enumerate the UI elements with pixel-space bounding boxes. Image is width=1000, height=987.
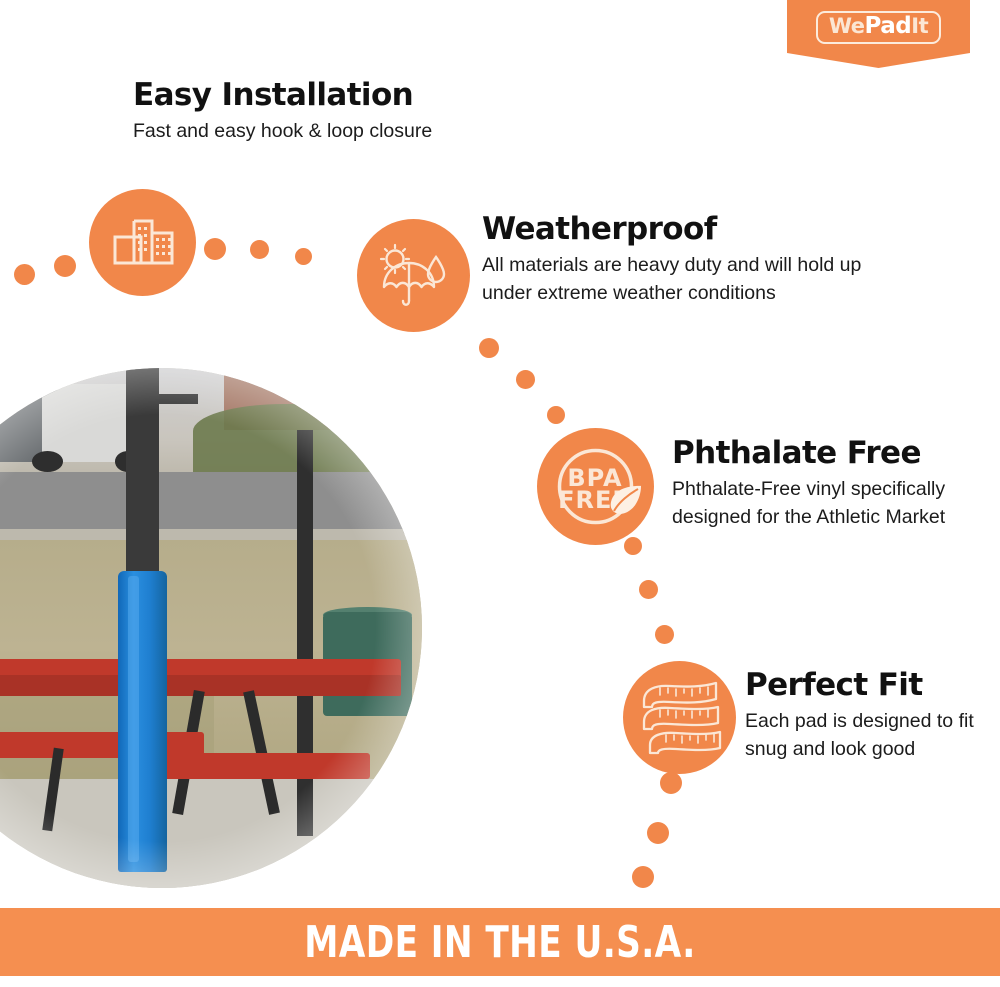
trail-dot — [54, 255, 76, 277]
feature-description: Fast and easy hook & loop closure — [133, 118, 593, 146]
brand-logo-pad: Pad — [865, 15, 912, 38]
trail-dot — [204, 238, 226, 260]
brand-logo-we: We — [829, 16, 865, 37]
trail-dot — [479, 338, 499, 358]
trail-dot — [624, 537, 642, 555]
feature-perfect-fit: Perfect Fit Each pad is designed to fit … — [745, 668, 985, 763]
feature-weatherproof: Weatherproof All materials are heavy dut… — [482, 212, 912, 307]
trail-dot — [250, 240, 269, 259]
feature-title: Phthalate Free — [672, 436, 972, 470]
trail-dot — [295, 248, 312, 265]
feature-title: Perfect Fit — [745, 668, 985, 702]
measuring-tape-icon — [623, 661, 736, 774]
brand-logo-frame: We Pad It — [816, 11, 941, 44]
made-in-usa-label: MADE IN THE U.S.A. — [304, 917, 695, 968]
feature-description: Each pad is designed to fit snug and loo… — [745, 708, 985, 763]
feature-description: All materials are heavy duty and will ho… — [482, 252, 912, 307]
trail-dot — [632, 866, 654, 888]
umbrella-sun-raindrop-icon — [357, 219, 470, 332]
trail-dot — [660, 772, 682, 794]
brand-logo-it: It — [911, 16, 928, 37]
feature-description: Phthalate-Free vinyl specifically design… — [672, 476, 972, 531]
bpa-free-leaf-icon: BPA FREE — [537, 428, 654, 545]
feature-title: Weatherproof — [482, 212, 912, 246]
trail-dot — [647, 822, 669, 844]
infographic-page: We Pad It Easy Installation — [0, 0, 1000, 987]
trail-dot — [639, 580, 658, 599]
made-in-usa-banner: MADE IN THE U.S.A. — [0, 908, 1000, 976]
feature-title: Easy Installation — [133, 78, 593, 112]
brand-logo: We Pad It — [787, 0, 970, 68]
trail-dot — [516, 370, 535, 389]
feature-phthalate-free: Phthalate Free Phthalate-Free vinyl spec… — [672, 436, 972, 531]
feature-easy-installation: Easy Installation Fast and easy hook & l… — [133, 78, 593, 146]
trail-dot — [547, 406, 565, 424]
trail-dot — [14, 264, 35, 285]
building-icon — [89, 189, 196, 296]
product-photo — [0, 368, 422, 888]
trail-dot — [655, 625, 674, 644]
